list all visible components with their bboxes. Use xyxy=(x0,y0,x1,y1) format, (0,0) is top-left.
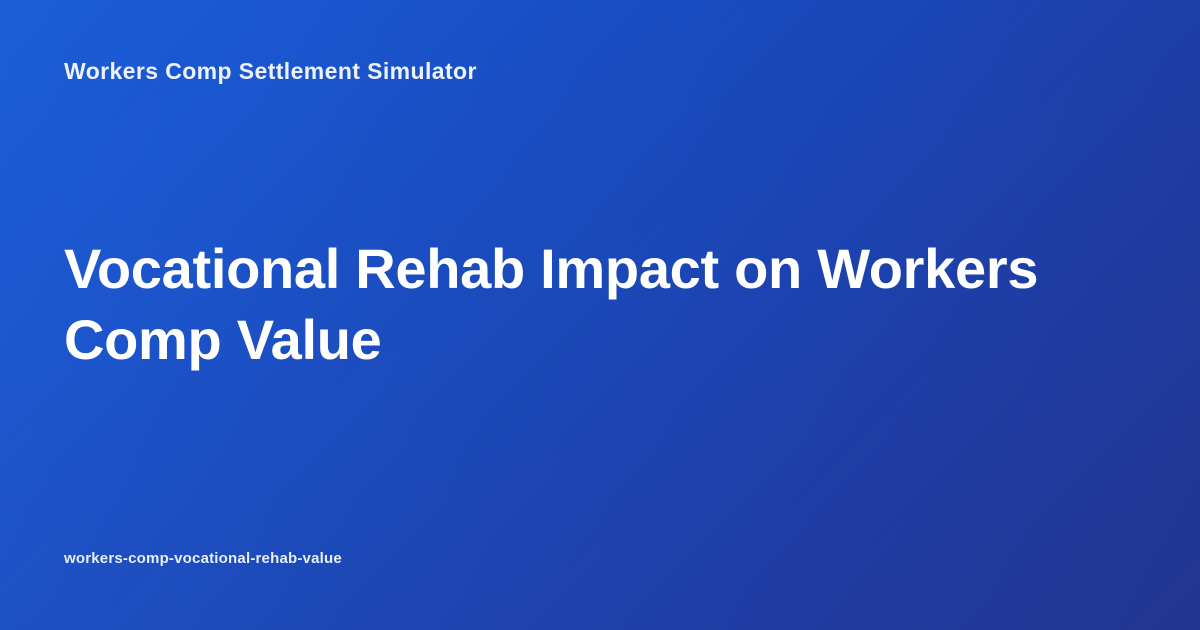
article-slug: workers-comp-vocational-rehab-value xyxy=(64,550,1136,568)
page-title: Vocational Rehab Impact on Workers Comp … xyxy=(64,234,1104,375)
card-main: Vocational Rehab Impact on Workers Comp … xyxy=(64,60,1136,550)
social-share-card: Workers Comp Settlement Simulator Vocati… xyxy=(0,0,1200,630)
card-footer: workers-comp-vocational-rehab-value xyxy=(64,550,1136,630)
